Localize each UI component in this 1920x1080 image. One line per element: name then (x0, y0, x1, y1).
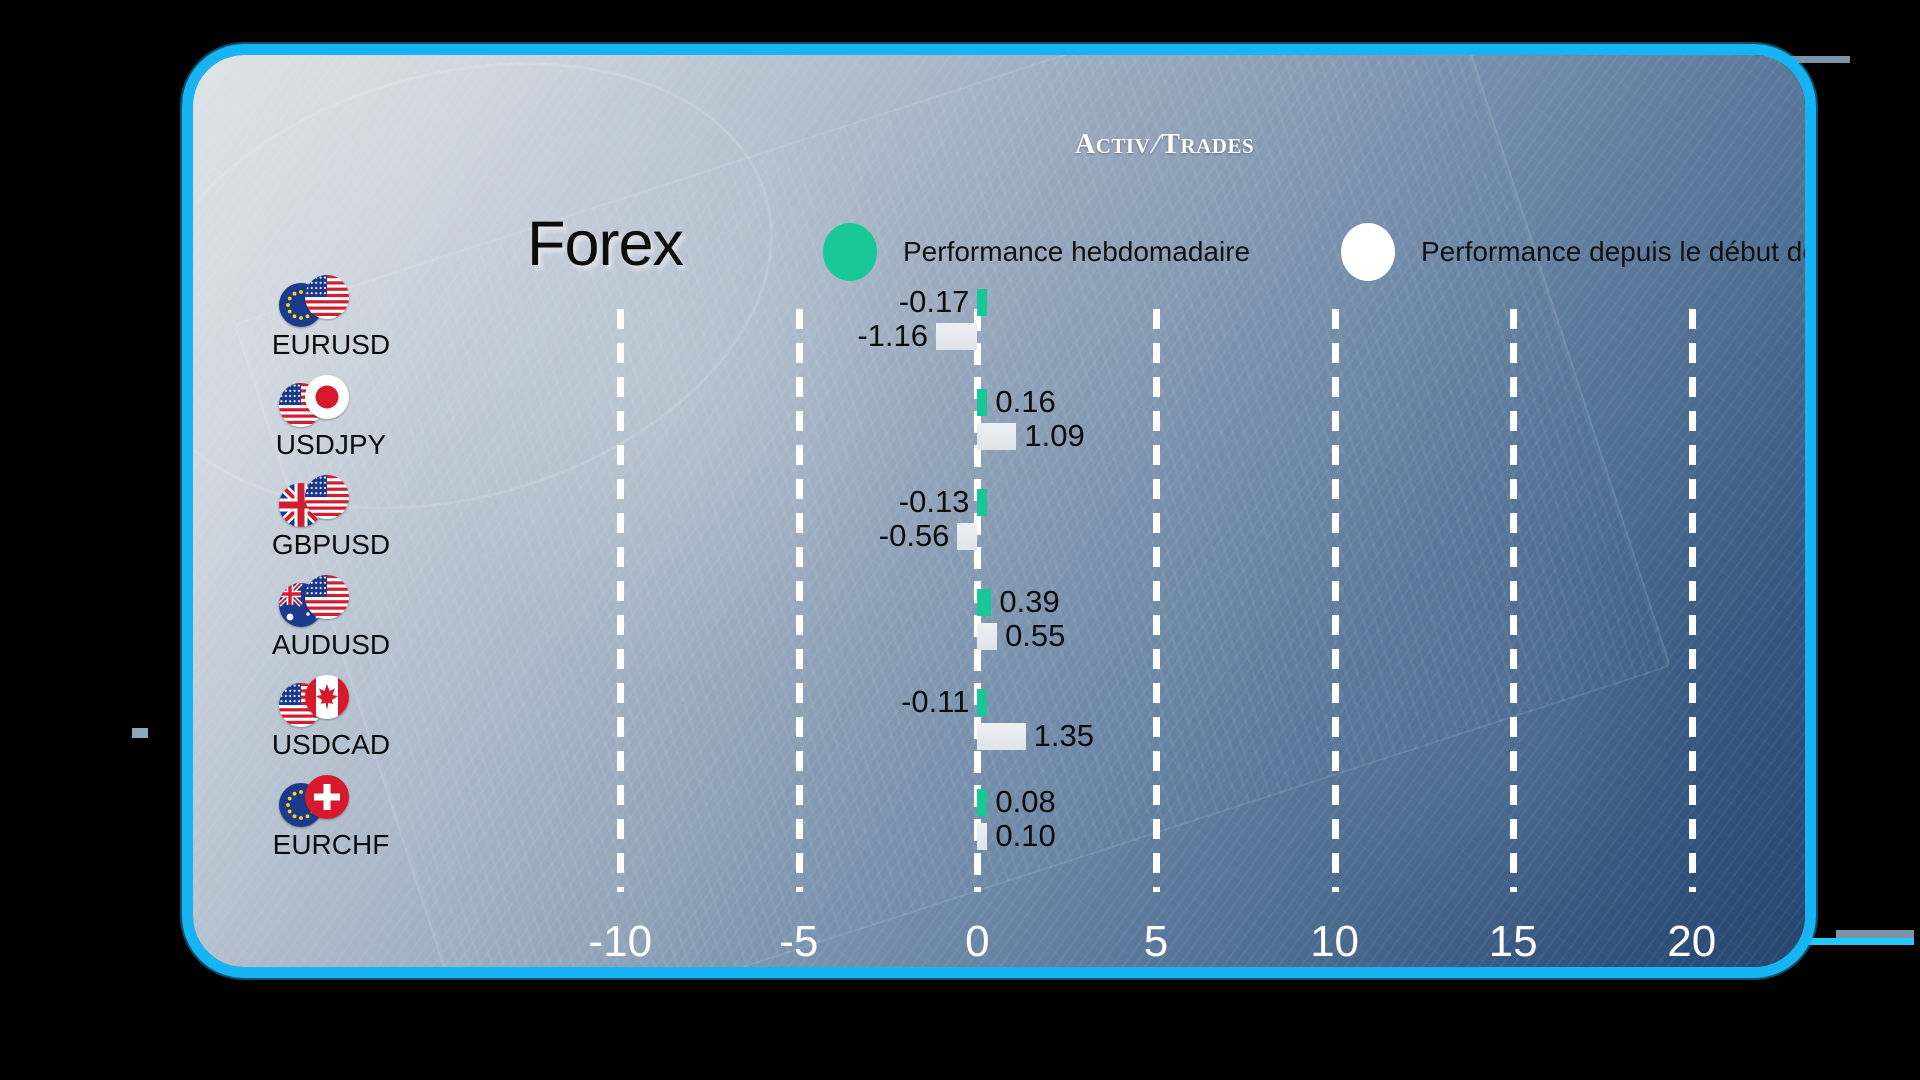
gridline-10 (1332, 309, 1339, 892)
x-tick-5: 5 (1144, 917, 1168, 967)
logo-a: A (1075, 129, 1096, 160)
activtrades-logo: ACTIV/TRADES (1075, 129, 1254, 161)
flag-ch-icon (305, 775, 349, 819)
gridline-5 (1153, 309, 1160, 892)
bar-ytd-eurusd-value-label: -1.16 (857, 322, 928, 349)
screenshot-root: ACTIV/TRADES Forex Performance hebdomada… (0, 0, 1920, 1080)
category-label: USDCAD (231, 729, 431, 761)
bar-weekly-gbpusd-value-label: -0.13 (899, 488, 970, 515)
flag-pair-audusd (231, 575, 431, 627)
flag-pair-eurchf (231, 775, 431, 827)
category-label: GBPUSD (231, 529, 431, 561)
flag-ca-icon (305, 675, 349, 719)
bar-ytd-gbpusd-value-label: -0.56 (879, 522, 950, 549)
gridline-15 (1510, 309, 1517, 892)
bar-weekly-eurusd-value-label: -0.17 (899, 288, 970, 315)
category-eurusd: EURUSD (231, 275, 431, 361)
bar-ytd-eurchf-value-label: 0.10 (995, 822, 1055, 849)
logo-rades: RADES (1180, 134, 1254, 158)
legend-swatch-weekly-icon (823, 223, 877, 281)
x-tick-10: 10 (1310, 917, 1359, 967)
category-audusd: AUDUSD (231, 575, 431, 661)
legend-label-weekly: Performance hebdomadaire (903, 236, 1250, 268)
bar-ytd-usdcad (977, 723, 1025, 750)
pixel-artifact (132, 728, 148, 738)
bar-ytd-eurchf (977, 823, 987, 850)
bar-weekly-usdcad (977, 689, 987, 716)
page-title: Forex (527, 208, 683, 280)
pixel-artifact (1806, 938, 1914, 945)
flag-pair-gbpusd (231, 475, 431, 527)
flag-pair-usdcad (231, 675, 431, 727)
category-label: AUDUSD (231, 629, 431, 661)
bar-weekly-eurusd (977, 289, 987, 316)
gridline--10 (617, 309, 624, 892)
category-label: EURUSD (231, 329, 431, 361)
gridline--5 (796, 309, 803, 892)
legend-swatch-ytd-icon (1341, 223, 1395, 281)
bar-weekly-usdjpy-value-label: 0.16 (995, 388, 1055, 415)
category-usdcad: USDCAD (231, 675, 431, 761)
flag-us-icon (305, 275, 349, 319)
bar-ytd-usdjpy-value-label: 1.09 (1024, 422, 1084, 449)
bar-weekly-audusd-value-label: 0.39 (999, 588, 1059, 615)
bar-weekly-usdjpy (977, 389, 987, 416)
category-label: USDJPY (231, 429, 431, 461)
bar-ytd-audusd (977, 623, 997, 650)
bar-ytd-gbpusd (957, 523, 977, 550)
bar-ytd-eurusd (936, 323, 977, 350)
forex-performance-card: ACTIV/TRADES Forex Performance hebdomada… (182, 44, 1816, 978)
category-eurchf: EURCHF (231, 775, 431, 861)
x-tick-15: 15 (1489, 917, 1538, 967)
x-tick-20: 20 (1667, 917, 1716, 967)
flag-jp-icon (305, 375, 349, 419)
x-tick--10: -10 (588, 917, 652, 967)
legend-label-ytd: Performance depuis le début de l’année (1421, 236, 1816, 268)
legend-item-weekly[interactable]: Performance hebdomadaire (823, 223, 1250, 281)
category-label: EURCHF (231, 829, 431, 861)
flag-pair-eurusd (231, 275, 431, 327)
flag-us-icon (305, 575, 349, 619)
legend-item-ytd[interactable]: Performance depuis le début de l’année (1341, 223, 1816, 281)
x-tick--5: -5 (779, 917, 818, 967)
bar-weekly-eurchf-value-label: 0.08 (995, 788, 1055, 815)
bar-weekly-audusd (977, 589, 991, 616)
category-gbpusd: GBPUSD (231, 475, 431, 561)
bar-ytd-usdjpy (977, 423, 1016, 450)
logo-t: T (1161, 129, 1180, 160)
pixel-artifact (1836, 930, 1914, 938)
flag-pair-usdjpy (231, 375, 431, 427)
chart-plot-area: EURUSD-0.17-1.16 USDJPY0.161.09 GBPUSD-0… (531, 303, 1781, 903)
bar-weekly-eurchf (977, 789, 987, 816)
logo-ctiv: CTIV (1096, 134, 1151, 158)
bar-ytd-audusd-value-label: 0.55 (1005, 622, 1065, 649)
bar-weekly-gbpusd (977, 489, 987, 516)
x-tick-0: 0 (965, 917, 989, 967)
flag-us-icon (305, 475, 349, 519)
category-usdjpy: USDJPY (231, 375, 431, 461)
bar-ytd-usdcad-value-label: 1.35 (1034, 722, 1094, 749)
gridline-20 (1689, 309, 1696, 892)
bar-weekly-usdcad-value-label: -0.11 (901, 688, 969, 715)
